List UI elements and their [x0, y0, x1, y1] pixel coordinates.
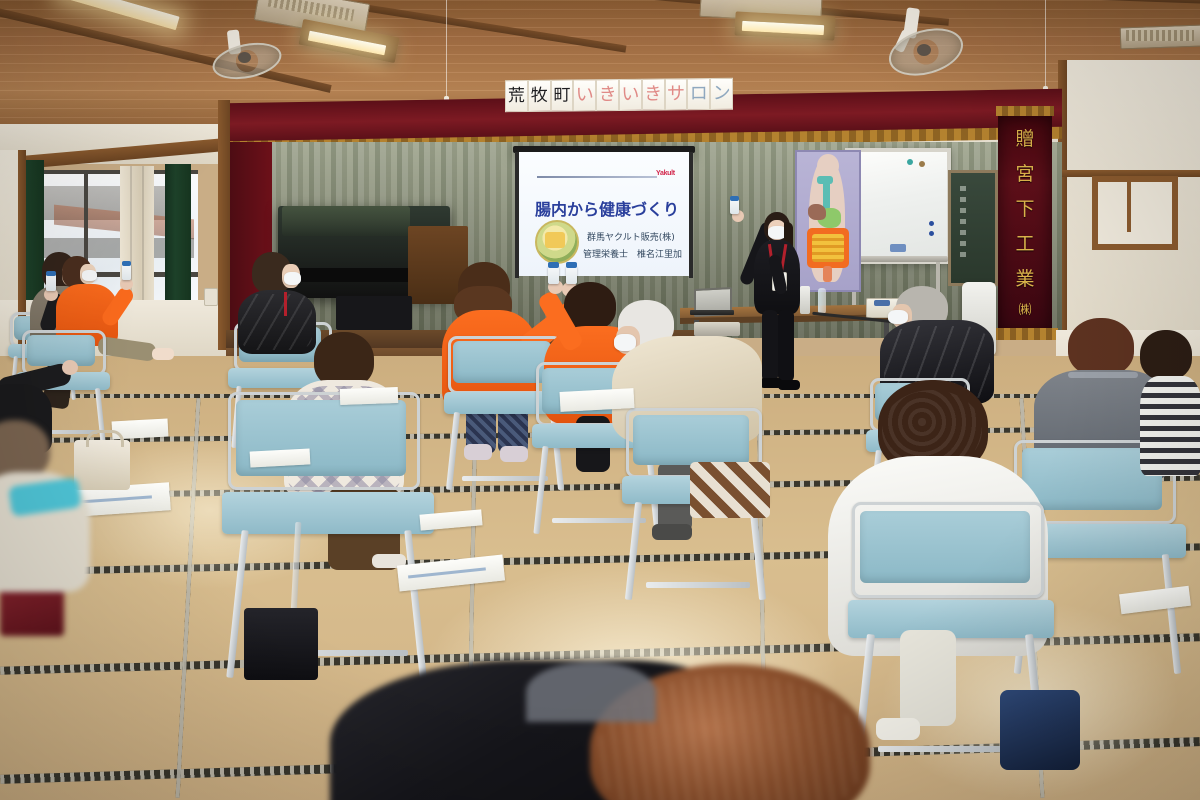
air-conditioner-vent-grille — [1126, 30, 1194, 41]
piano-cover — [282, 206, 410, 236]
projector-screen: Yakult 腸内から健康づくり 群馬ヤクルト販売(株) 管理栄養士 椎名江里加 — [519, 152, 689, 276]
attendee-foreground-left — [0, 420, 110, 600]
stage-left-post — [218, 100, 230, 350]
banner-char: 牧 — [531, 87, 548, 104]
banner-char: ロ — [690, 85, 708, 103]
small-intestine-organ — [812, 234, 844, 262]
yakult-bottle-cap — [46, 271, 56, 276]
yakult-bottle[interactable] — [46, 274, 56, 291]
plaque-top-trim — [996, 106, 1054, 116]
plaque-char: ㈱ — [1018, 299, 1031, 318]
event-banner: 荒 牧 町 い き い き サ ロ ン — [505, 78, 733, 112]
attendee-hand — [62, 360, 78, 375]
whiteboard-magnet[interactable] — [907, 159, 913, 165]
attendee-leg — [900, 630, 956, 726]
plaque-char: 業 — [1015, 264, 1034, 291]
banner-cell: き — [596, 79, 619, 111]
yakult-bottle-cap — [548, 262, 559, 268]
light-pull-cord[interactable] — [446, 0, 447, 96]
yakult-bottle[interactable] — [548, 266, 559, 284]
av-equipment — [336, 296, 412, 330]
banner-cell: ン — [710, 78, 733, 110]
liver-organ — [808, 204, 826, 220]
plaque-char: 宮 — [1015, 159, 1034, 186]
whiteboard-magnet[interactable] — [929, 231, 934, 236]
collar-grey — [526, 662, 656, 722]
banner-cell: 荒 — [505, 80, 528, 112]
attendee-foot — [152, 348, 174, 360]
handout[interactable] — [340, 387, 399, 405]
wall-fan-hub — [238, 52, 251, 63]
blackboard-text — [960, 186, 966, 260]
plaque-char: 贈 — [1015, 124, 1034, 151]
banner-char: き — [644, 86, 662, 104]
banner-cell: ロ — [687, 78, 710, 110]
attendee-torso — [1140, 376, 1200, 476]
yakult-bottle[interactable] — [122, 264, 131, 280]
plaque-char: 下 — [1015, 194, 1034, 221]
slide-seal-inner — [545, 232, 565, 248]
ceiling-fan-hub — [917, 44, 931, 56]
plaque-char: 工 — [1015, 229, 1034, 256]
banner-cell: 町 — [551, 79, 574, 111]
banner-char: い — [621, 86, 639, 104]
esophagus-bend — [817, 176, 833, 184]
banner-cell: い — [619, 79, 642, 111]
chair-leg — [625, 502, 642, 600]
banner-cell: 牧 — [528, 80, 551, 112]
patterned-bag[interactable] — [690, 462, 770, 518]
collar-detail — [1068, 372, 1138, 378]
chair-leg — [1162, 554, 1182, 674]
rectum-organ — [823, 266, 832, 282]
attendee-head — [1140, 330, 1192, 380]
slide-organization: 群馬ヤクルト販売(株) — [587, 230, 675, 243]
attendee-striped-right — [1140, 330, 1200, 490]
banner-cell: サ — [665, 78, 688, 110]
slide-divider — [537, 176, 657, 178]
handout-line — [408, 567, 486, 578]
banner-char: き — [599, 86, 617, 104]
banner-cell: き — [642, 79, 665, 111]
yakult-logo-text: Yakult — [656, 170, 675, 177]
yakult-bottle-cap — [122, 261, 131, 266]
water-bottle[interactable] — [818, 288, 826, 314]
banner-char: 町 — [553, 87, 570, 104]
attendee-head — [1068, 318, 1134, 376]
chair-seat — [222, 492, 434, 534]
banner-char: 荒 — [508, 87, 525, 104]
whiteboard-eraser[interactable] — [890, 244, 906, 252]
projector-screen-side-rail — [689, 152, 693, 278]
chair-leg — [446, 412, 460, 490]
chair-back — [633, 415, 749, 465]
bag-black[interactable] — [244, 608, 318, 680]
banner-cell: い — [573, 79, 596, 111]
banner-char: サ — [667, 85, 685, 103]
right-wall-frame-divider — [1127, 182, 1131, 232]
chair-leg — [646, 582, 750, 588]
slide-title: 腸内から健康づくり — [535, 196, 679, 220]
yakult-bottle-cap — [566, 262, 577, 268]
yakult-bottle-cap — [730, 196, 739, 201]
whiteboard-magnet[interactable] — [919, 161, 925, 167]
poster-head — [817, 154, 839, 178]
chair-leg — [533, 446, 548, 534]
face-mask — [284, 272, 301, 285]
wall-outlet[interactable] — [204, 288, 218, 306]
light-pull-cord[interactable] — [1045, 0, 1046, 86]
banner-char: い — [576, 86, 594, 104]
bag-patterned-right[interactable] — [1000, 690, 1080, 770]
right-wall-frame — [1092, 176, 1178, 250]
handout[interactable] — [560, 388, 635, 412]
face-mask — [82, 270, 97, 281]
chair-back — [860, 511, 1030, 583]
handout[interactable] — [250, 448, 311, 467]
banner-char: ン — [713, 85, 731, 103]
blackboard — [948, 170, 998, 286]
attendee-foreground — [330, 640, 890, 800]
photo-scene: 荒 牧 町 い き い き サ ロ ン Yakult 腸内から健康づくり 群馬ヤ… — [0, 0, 1200, 800]
lanyard — [284, 292, 287, 316]
attendee-head — [0, 420, 50, 480]
slide-presenter-name: 管理栄養士 椎名江里加 — [583, 247, 682, 260]
whiteboard-magnet[interactable] — [929, 221, 934, 226]
